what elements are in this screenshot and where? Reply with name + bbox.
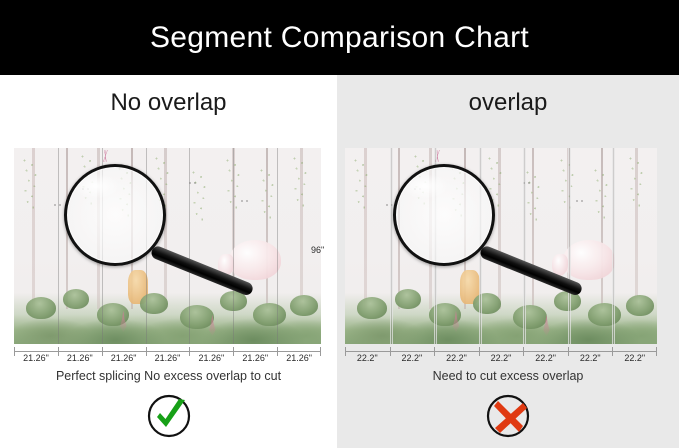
segment-label: 21.26"	[277, 346, 321, 368]
forest-mural-image	[14, 148, 321, 344]
segment-label: 21.26"	[233, 346, 277, 368]
segment-ruler-overlap: 22.2" 22.2" 22.2" 22.2" 22.2" 22.2" 22.2…	[345, 346, 657, 368]
segment-ruler-no-overlap: 21.26" 21.26" 21.26" 21.26" 21.26" 21.26…	[14, 346, 321, 368]
comparison-panels: No overlap	[0, 75, 679, 448]
segment-label: 22.2"	[612, 346, 657, 368]
check-mark-icon	[146, 393, 192, 439]
segment-label: 22.2"	[479, 346, 524, 368]
title-bar: Segment Comparison Chart	[0, 0, 679, 75]
forest-mural-image	[345, 148, 657, 344]
page-title: Segment Comparison Chart	[150, 21, 529, 55]
segment-label: 21.26"	[189, 346, 233, 368]
mural-figure-no-overlap	[14, 148, 321, 344]
elephant-illustration	[563, 240, 615, 280]
panel-heading-overlap: overlap	[337, 89, 679, 117]
segment-label: 22.2"	[434, 346, 479, 368]
elephant-illustration	[229, 240, 281, 280]
panel-overlap: overlap	[337, 75, 679, 448]
segment-label: 22.2"	[345, 346, 390, 368]
segment-label: 22.2"	[523, 346, 568, 368]
cross-mark-icon	[485, 393, 531, 439]
segment-label: 22.2"	[568, 346, 613, 368]
mural-figure-overlap	[345, 148, 657, 344]
panel-no-overlap: No overlap	[0, 75, 337, 448]
segment-label: 22.2"	[390, 346, 435, 368]
mural-height-label-left: 96"	[311, 245, 324, 255]
segment-label: 21.26"	[14, 346, 58, 368]
segment-comparison-page: Segment Comparison Chart No overlap	[0, 0, 679, 448]
segment-label: 21.26"	[146, 346, 190, 368]
segment-label: 21.26"	[102, 346, 146, 368]
segment-label: 21.26"	[58, 346, 102, 368]
panel-heading-no-overlap: No overlap	[0, 89, 337, 117]
panel-caption-overlap: Need to cut excess overlap	[337, 369, 679, 383]
panel-caption-no-overlap: Perfect splicing No excess overlap to cu…	[0, 369, 337, 383]
